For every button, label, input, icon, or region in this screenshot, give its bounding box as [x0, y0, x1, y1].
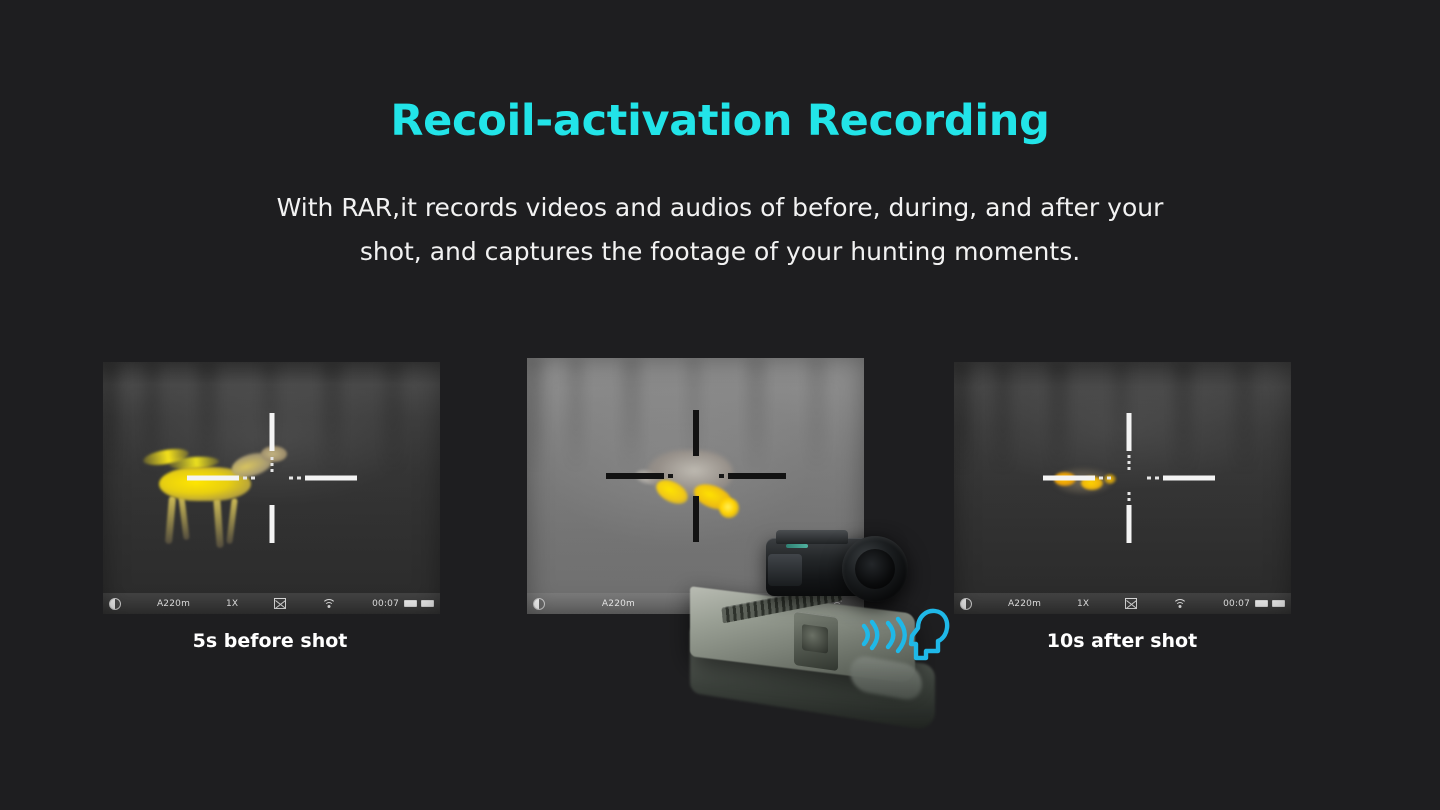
timer-readout: 00:07	[1223, 599, 1250, 609]
timer-readout: 00:07	[372, 599, 399, 609]
image-palette-icon[interactable]	[1125, 598, 1137, 609]
crosshair-reticle	[1043, 413, 1215, 543]
caption-before: 5s before shot	[100, 630, 440, 652]
slide-root: Recoil-activation Recording With RAR,it …	[0, 0, 1440, 810]
scope-hud-bar: A220m 1X 00:07	[954, 593, 1291, 614]
half-moon-icon[interactable]	[109, 598, 121, 610]
half-moon-icon[interactable]	[533, 598, 545, 610]
wifi-icon[interactable]	[1173, 598, 1187, 609]
subtitle-line-1: With RAR,it records videos and audios of…	[270, 186, 1170, 230]
distance-readout: A220m	[1008, 599, 1041, 609]
battery-icon	[1255, 600, 1268, 607]
distance-readout: A220m	[157, 599, 190, 609]
scope-green-accent	[786, 544, 808, 548]
thermal-scene-before	[103, 362, 440, 614]
battery-icon	[421, 600, 434, 607]
crosshair-reticle	[187, 413, 357, 543]
crosshair-reticle	[606, 410, 786, 542]
zoom-readout: 1X	[226, 599, 238, 609]
image-palette-icon[interactable]	[274, 598, 286, 609]
thermal-panel-after[interactable]: A220m 1X 00:07	[954, 362, 1291, 614]
wifi-icon[interactable]	[322, 598, 336, 609]
page-title: Recoil-activation Recording	[0, 96, 1440, 146]
scope-top-rail	[776, 530, 848, 544]
thermal-panel-before[interactable]: A220m 1X 00:07	[103, 362, 440, 614]
scope-eyepiece	[842, 536, 908, 602]
rifle-with-thermal-scope	[690, 528, 990, 728]
thermal-scene-after	[954, 362, 1291, 614]
speaking-head-with-soundwaves-icon	[858, 606, 950, 664]
distance-readout: A220m	[602, 599, 635, 609]
battery-icon	[404, 600, 417, 607]
scope-turret	[768, 554, 802, 586]
scope-mount	[794, 611, 838, 671]
scope-hud-bar: A220m 1X 00:07	[103, 593, 440, 614]
deer-leg	[165, 496, 176, 544]
subtitle-line-2: shot, and captures the footage of your h…	[270, 230, 1170, 274]
caption-after: 10s after shot	[952, 630, 1292, 652]
zoom-readout: 1X	[1077, 599, 1089, 609]
battery-icon	[1272, 600, 1285, 607]
page-subtitle: With RAR,it records videos and audios of…	[270, 186, 1170, 274]
